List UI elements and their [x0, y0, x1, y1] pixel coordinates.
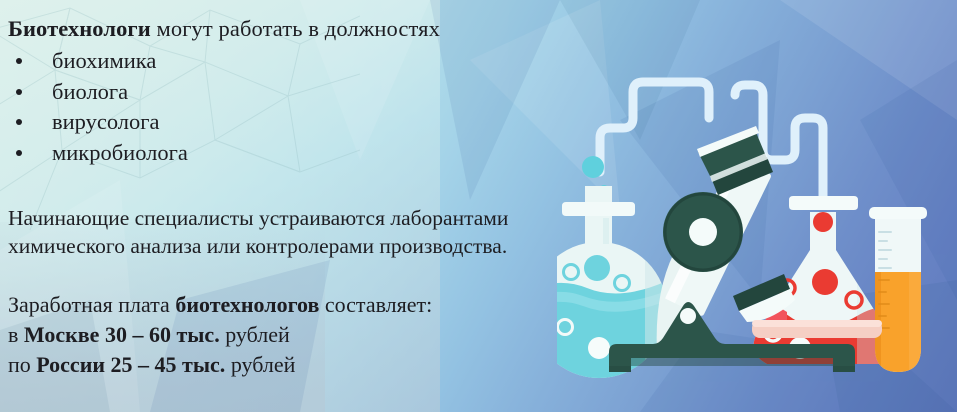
lead-line: Биотехнологи могут работать в должностях [8, 14, 628, 44]
salary-moscow-line: в Москве 30 – 60 тыс. рублей [8, 320, 628, 350]
salary-intro-prefix: Заработная плата [8, 292, 175, 317]
list-item: вирусолога [8, 107, 628, 138]
list-item: биолога [8, 77, 628, 108]
paragraph-line-1: Начинающие специалисты устраиваются лабо… [8, 204, 628, 232]
lead-bold-term: Биотехнологи [8, 16, 151, 41]
list-item-label: вирусолога [52, 109, 160, 134]
salary-russia-prefix: по [8, 352, 36, 377]
slide-canvas: Биотехнологи могут работать в должностях… [0, 0, 957, 412]
text-content-column: Биотехнологи могут работать в должностях… [8, 14, 628, 380]
bullet-dot-icon [16, 119, 22, 125]
salary-intro-suffix: составляет: [319, 292, 432, 317]
salary-russia-suffix: рублей [225, 352, 295, 377]
salary-intro-line: Заработная плата биотехнологов составляе… [8, 290, 628, 320]
lead-rest-text: могут работать в должностях [151, 16, 440, 41]
spacer-after-list [8, 168, 628, 204]
bullet-dot-icon [16, 58, 22, 64]
salary-moscow-prefix: в [8, 322, 24, 347]
laboratory-equipment-illustration [557, 0, 957, 412]
graduated-test-tube-orange-icon [867, 207, 937, 382]
bullet-dot-icon [16, 150, 22, 156]
salary-russia-line: по России 25 – 45 тыс. рублей [8, 350, 628, 380]
salary-moscow-suffix: рублей [220, 322, 290, 347]
list-item-label: микробиолога [52, 140, 188, 165]
salary-moscow-bold: Москве 30 – 60 тыс. [24, 322, 220, 347]
list-item: микробиолога [8, 138, 628, 169]
list-item: биохимика [8, 46, 628, 77]
paragraph-line-2: химического анализа или контролерами про… [8, 232, 628, 260]
salary-intro-bold: биотехнологов [175, 292, 319, 317]
bullet-dot-icon [16, 89, 22, 95]
list-item-label: биохимика [52, 48, 156, 73]
list-item-label: биолога [52, 79, 128, 104]
spacer-after-paragraph [8, 260, 628, 290]
job-titles-list: биохимика биолога вирусолога микробиолог… [8, 46, 628, 168]
salary-russia-bold: России 25 – 45 тыс. [36, 352, 225, 377]
